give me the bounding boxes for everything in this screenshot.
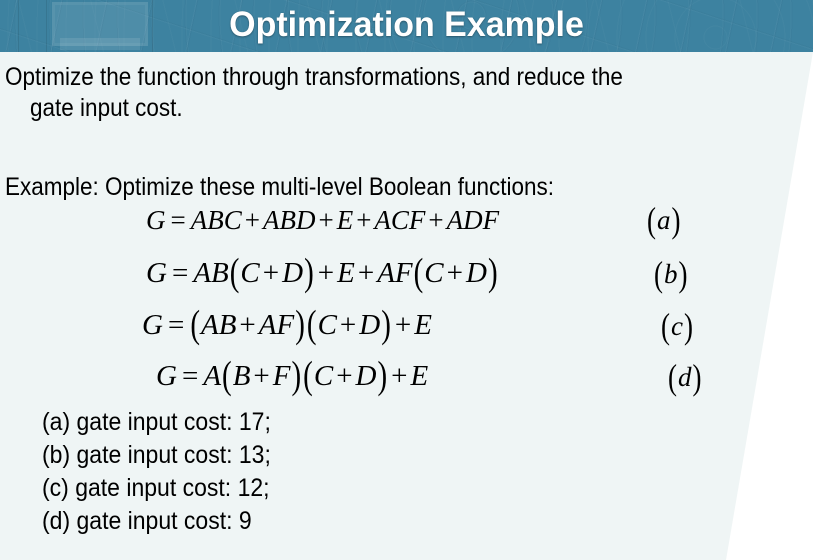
equation-operator: + xyxy=(425,205,446,235)
gate-cost-list: (a) gate input cost: 17; (b) gate input … xyxy=(42,406,291,538)
equation-paren: ( xyxy=(221,354,233,399)
equation-expression: G=(AB+AF)(C+D)+E xyxy=(142,309,432,342)
equation-label-letter: a xyxy=(657,205,671,235)
equation-variable: G xyxy=(156,360,177,392)
equation-operator: + xyxy=(236,309,258,341)
equation-paren: ) xyxy=(294,303,306,348)
equation-variable: D xyxy=(359,309,380,341)
equation-variable: ABC xyxy=(191,205,242,235)
gate-cost-line: (a) gate input cost: 17; xyxy=(42,406,271,439)
equation-operator: + xyxy=(250,360,272,392)
equation-paren: ) xyxy=(380,303,392,348)
equation-variable: D xyxy=(466,257,487,289)
equation-paren: ( xyxy=(229,251,241,296)
equation-variable: ADF xyxy=(447,205,499,235)
equation-variable: F xyxy=(273,360,291,392)
equation-variable: AF xyxy=(259,309,294,341)
equation-variable: ACF xyxy=(374,205,425,235)
equation-operator: + xyxy=(355,257,377,289)
equation-variable: A xyxy=(203,360,221,392)
equation-variable: C xyxy=(424,257,443,289)
equation-variable: G xyxy=(142,309,163,341)
equation-operator: + xyxy=(260,257,282,289)
equation-variable: C xyxy=(240,257,259,289)
equation-label-letter: c xyxy=(671,311,683,341)
equation-variable: G xyxy=(146,205,166,235)
gate-cost-line: (b) gate input cost: 13; xyxy=(42,439,271,472)
gate-cost-line: (d) gate input cost: 9 xyxy=(42,505,271,538)
equation-operator: + xyxy=(337,309,359,341)
gate-cost-line: (c) gate input cost: 12; xyxy=(42,472,271,505)
equation-label: (c) xyxy=(660,311,694,342)
equation-label-letter: b xyxy=(664,259,678,289)
equation-equals: = xyxy=(167,257,193,289)
slide-header: Optimization Example xyxy=(0,0,813,52)
page-title: Optimization Example xyxy=(12,0,801,52)
equation-variable: E xyxy=(414,309,432,341)
slide: Optimization Example Optimize the functi… xyxy=(0,0,813,560)
equation-variable: E xyxy=(337,257,355,289)
equation-variable: C xyxy=(318,309,337,341)
equation-paren: ( xyxy=(302,354,314,399)
equation-variable: AF xyxy=(377,257,412,289)
equation-variable: ABD xyxy=(263,205,315,235)
equation-paren: ( xyxy=(189,303,201,348)
equation-label: (a) xyxy=(646,205,682,236)
equation-paren: ) xyxy=(303,251,315,296)
equation-label: (b) xyxy=(653,259,689,290)
equation-operator: + xyxy=(392,309,414,341)
equation-variable: D xyxy=(356,360,377,392)
equation-equals: = xyxy=(163,309,189,341)
equation-variable: B xyxy=(233,360,251,392)
equation-equals: = xyxy=(166,205,191,235)
equation-paren: ) xyxy=(291,354,303,399)
equation-paren: ) xyxy=(377,354,389,399)
equation-operator: + xyxy=(315,257,337,289)
example-lead-text: Example: Optimize these multi-level Bool… xyxy=(5,172,813,203)
equation-variable: E xyxy=(411,360,429,392)
equation-equals: = xyxy=(177,360,203,392)
equation-operator: + xyxy=(242,205,263,235)
equation-variable: G xyxy=(146,257,167,289)
equation-expression: G=ABC+ABD+E+ACF+ADF xyxy=(146,205,499,236)
equation-label: (d) xyxy=(667,362,703,393)
equation-paren: ( xyxy=(306,303,318,348)
equation-variable: AB xyxy=(201,309,236,341)
equation-operator: + xyxy=(353,205,374,235)
equation-variable: E xyxy=(337,205,354,235)
equation-operator: + xyxy=(444,257,466,289)
equation-label-letter: d xyxy=(678,362,692,392)
equation-operator: + xyxy=(315,205,336,235)
equation-paren: ) xyxy=(487,251,499,296)
equation-paren: ( xyxy=(413,251,425,296)
equation-operator: + xyxy=(333,360,355,392)
intro-text: Optimize the function through transforma… xyxy=(5,62,813,124)
equation-expression: G=A(B+F)(C+D)+E xyxy=(156,360,428,393)
equation-variable: D xyxy=(282,257,303,289)
equation-expression: G=AB(C+D)+E+AF(C+D) xyxy=(146,257,499,290)
equation-operator: + xyxy=(388,360,410,392)
equation-variable: C xyxy=(314,360,333,392)
equation-variable: AB xyxy=(193,257,228,289)
